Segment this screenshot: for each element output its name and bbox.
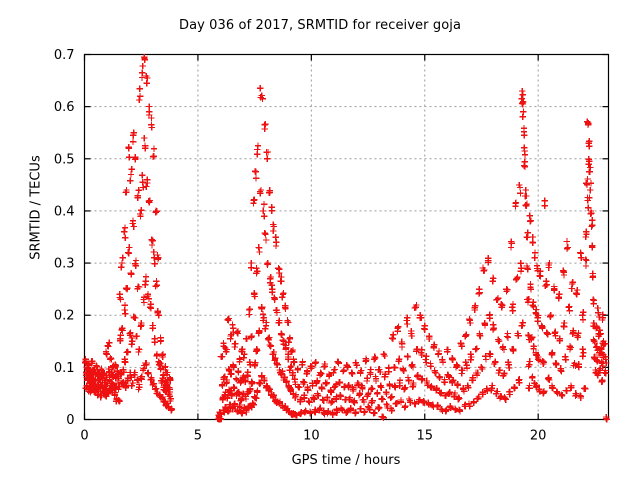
svg-text:0: 0 [66, 413, 74, 428]
svg-text:20: 20 [530, 429, 547, 444]
svg-text:0.4: 0.4 [54, 204, 75, 219]
svg-text:0.3: 0.3 [54, 257, 75, 272]
svg-text:0.6: 0.6 [54, 100, 75, 115]
svg-text:15: 15 [416, 429, 433, 444]
x-axis-label: GPS time / hours [84, 453, 608, 468]
svg-text:0.5: 0.5 [54, 152, 75, 167]
svg-text:5: 5 [194, 429, 202, 444]
svg-text:0.1: 0.1 [54, 361, 75, 376]
axis-tick-labels: 00.10.20.30.40.50.60.705101520 [54, 48, 547, 444]
y-axis-label: SRMTID / TECUs [29, 88, 44, 328]
svg-text:10: 10 [303, 429, 320, 444]
svg-text:0.2: 0.2 [54, 309, 75, 324]
svg-text:0: 0 [80, 429, 88, 444]
svg-text:0.7: 0.7 [54, 48, 75, 63]
chart-screenshot: Day 036 of 2017, SRMTID for receiver goj… [0, 0, 640, 480]
scatter-plot: 00.10.20.30.40.50.60.705101520 [0, 0, 640, 480]
zero-line-marker [217, 417, 222, 422]
